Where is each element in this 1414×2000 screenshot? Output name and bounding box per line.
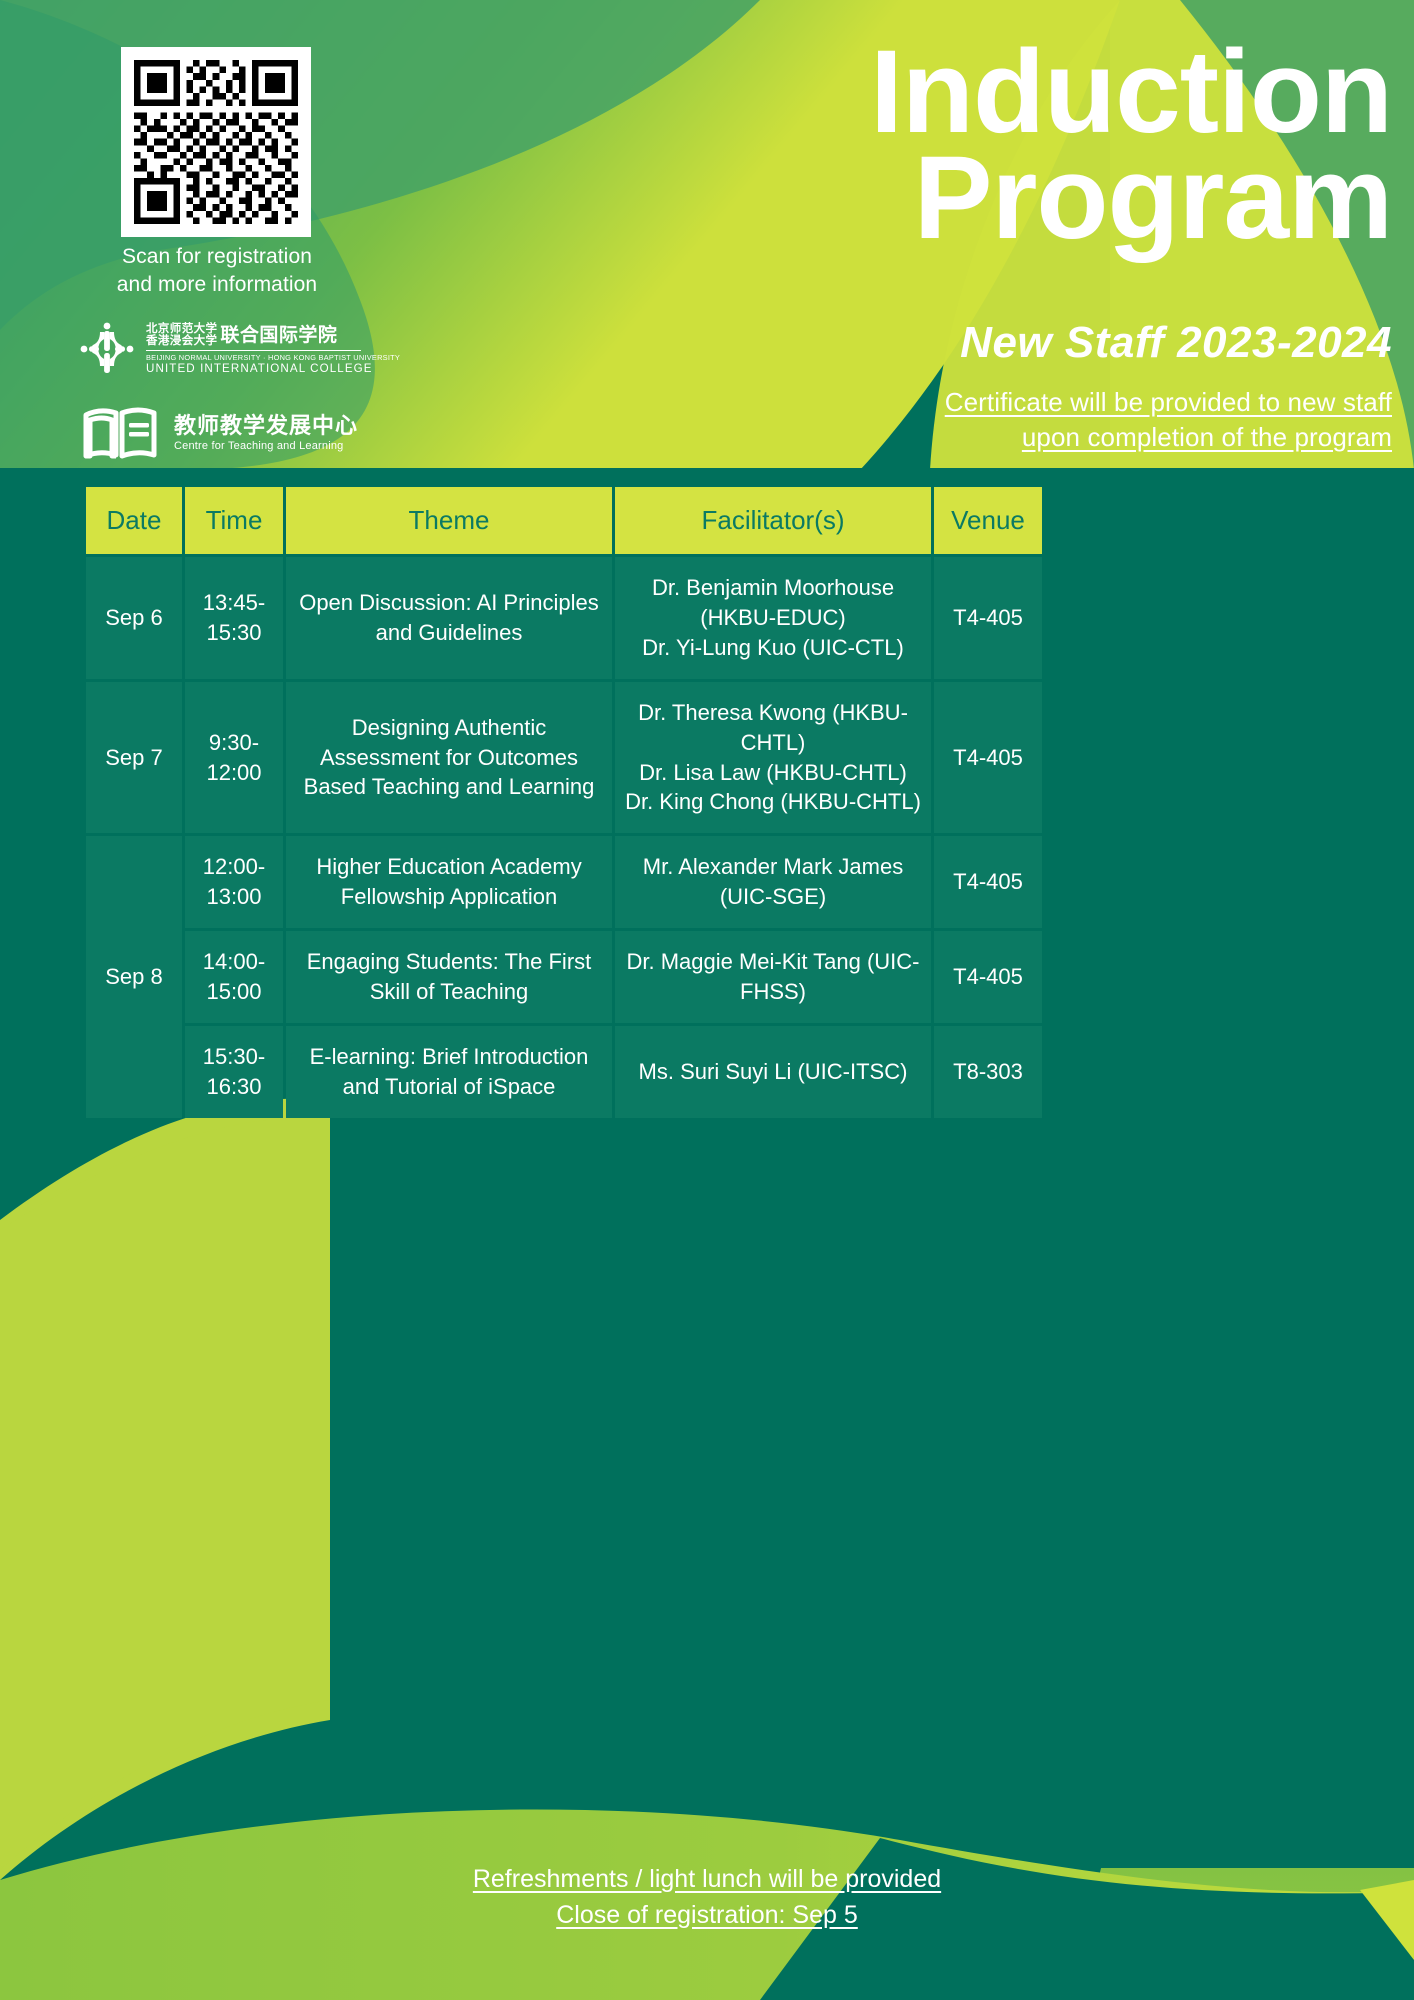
cell-date: Sep 6: [86, 557, 182, 679]
column-header-date: Date: [86, 487, 182, 554]
certificate-note-line1: Certificate will be provided to new staf…: [945, 387, 1392, 417]
poster-title-line2: Program: [512, 142, 1392, 254]
ctl-logo-text: 教师教学发展中心 Centre for Teaching and Learnin…: [174, 414, 402, 452]
footer-line2: Close of registration: Sep 5: [0, 1898, 1414, 1934]
cell-facilitators: Ms. Suri Suyi Li (UIC-ITSC): [615, 1026, 931, 1118]
ctl-en: Centre for Teaching and Learning: [174, 440, 402, 452]
poster-footer: Refreshments / light lunch will be provi…: [0, 1862, 1414, 1933]
table-row: 15:30-16:30 E-learning: Brief Introducti…: [86, 1026, 1042, 1118]
cell-theme: Higher Education Academy Fellowship Appl…: [286, 836, 612, 928]
poster-header: Scan for registration and more informati…: [0, 0, 1414, 470]
cell-theme: Designing Authentic Assessment for Outco…: [286, 682, 612, 834]
uic-en-line2: UNITED INTERNATIONAL COLLEGE: [146, 362, 378, 375]
uic-en-line1: BEIJING NORMAL UNIVERSITY · HONG KONG BA…: [146, 353, 378, 362]
uic-logo-divider: [146, 350, 361, 351]
uic-cn-line1: 北京师范大学: [146, 323, 217, 335]
cell-facilitators: Dr. Benjamin Moorhouse (HKBU-EDUC)Dr. Yi…: [615, 557, 931, 679]
cell-date: Sep 7: [86, 682, 182, 834]
uic-cn-line2: 香港浸会大学: [146, 335, 217, 347]
column-header-theme: Theme: [286, 487, 612, 554]
table-row: Sep 6 13:45-15:30 Open Discussion: AI Pr…: [86, 557, 1042, 679]
schedule-table: Date Time Theme Facilitator(s) Venue Sep…: [83, 484, 1045, 1121]
cell-date: Sep 8: [86, 836, 182, 1117]
cell-time: 14:00-15:00: [185, 931, 283, 1023]
table-header-row: Date Time Theme Facilitator(s) Venue: [86, 487, 1042, 554]
poster-title: Induction Program: [512, 36, 1392, 254]
cell-venue: T4-405: [934, 682, 1042, 834]
cell-theme: Open Discussion: AI Principles and Guide…: [286, 557, 612, 679]
certificate-note: Certificate will be provided to new staf…: [512, 385, 1392, 455]
cell-time: 15:30-16:30: [185, 1026, 283, 1118]
qr-caption-line1: Scan for registration: [92, 243, 342, 271]
uic-logo-text: 北京师范大学 香港浸会大学 联合国际学院 BEIJING NORMAL UNIV…: [146, 323, 378, 376]
cell-time: 13:45-15:30: [185, 557, 283, 679]
open-book-icon: [82, 405, 160, 461]
table-row: 14:00-15:00 Engaging Students: The First…: [86, 931, 1042, 1023]
table-row: Sep 8 12:00-13:00 Higher Education Acade…: [86, 836, 1042, 928]
column-header-venue: Venue: [934, 487, 1042, 554]
cell-theme: E-learning: Brief Introduction and Tutor…: [286, 1026, 612, 1118]
certificate-note-line2: upon completion of the program: [1022, 422, 1392, 452]
cell-venue: T4-405: [934, 557, 1042, 679]
cell-time: 12:00-13:00: [185, 836, 283, 928]
table-row: Sep 7 9:30-12:00 Designing Authentic Ass…: [86, 682, 1042, 834]
poster-subtitle: New Staff 2023-2024: [512, 318, 1392, 368]
cell-facilitators: Dr. Maggie Mei-Kit Tang (UIC-FHSS): [615, 931, 931, 1023]
qr-caption: Scan for registration and more informati…: [92, 243, 342, 298]
footer-line1: Refreshments / light lunch will be provi…: [0, 1862, 1414, 1898]
cell-theme: Engaging Students: The First Skill of Te…: [286, 931, 612, 1023]
column-header-facilitators: Facilitator(s): [615, 487, 931, 554]
cell-time: 9:30-12:00: [185, 682, 283, 834]
poster-root: Scan for registration and more informati…: [0, 0, 1414, 2000]
ctl-cn: 教师教学发展中心: [174, 414, 402, 439]
ctl-logo: 教师教学发展中心 Centre for Teaching and Learnin…: [82, 398, 402, 468]
cell-venue: T4-405: [934, 836, 1042, 928]
cell-venue: T4-405: [934, 931, 1042, 1023]
uic-logo: 北京师范大学 香港浸会大学 联合国际学院 BEIJING NORMAL UNIV…: [78, 316, 378, 382]
cell-venue: T8-303: [934, 1026, 1042, 1118]
cell-facilitators: Mr. Alexander Mark James (UIC-SGE): [615, 836, 931, 928]
schedule-table-container: Date Time Theme Facilitator(s) Venue Sep…: [83, 484, 1027, 1121]
qr-caption-line2: and more information: [92, 271, 342, 299]
column-header-time: Time: [185, 487, 283, 554]
uic-cn-big: 联合国际学院: [220, 326, 337, 345]
uic-emblem-icon: [78, 320, 136, 378]
qr-code[interactable]: [121, 47, 311, 237]
cell-facilitators: Dr. Theresa Kwong (HKBU-CHTL)Dr. Lisa La…: [615, 682, 931, 834]
